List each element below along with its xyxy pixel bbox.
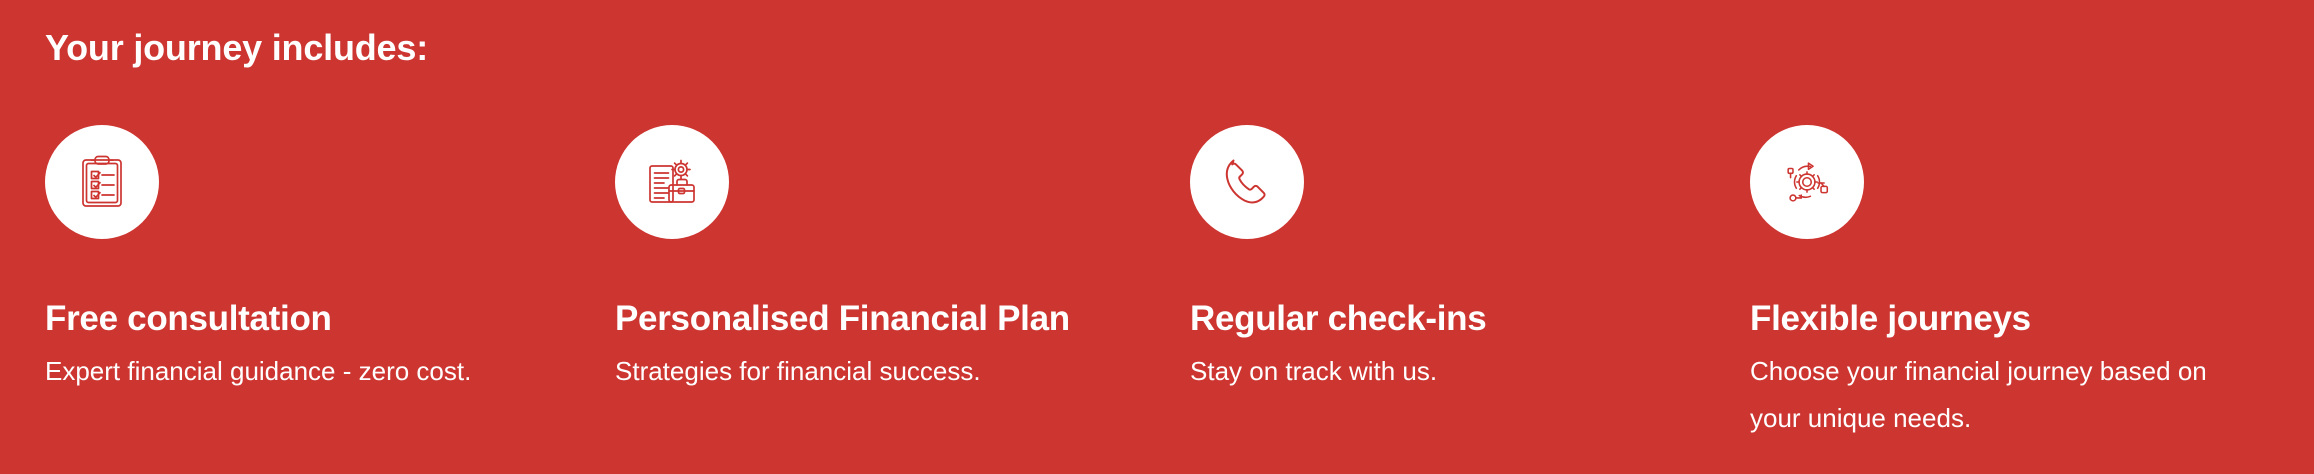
feature-description: Stay on track with us. <box>1190 348 1690 395</box>
feature-description: Expert financial guidance - zero cost. <box>45 348 545 395</box>
feature-description: Strategies for financial success. <box>615 348 1115 395</box>
features-row: Free consultation Expert financial guida… <box>45 125 2275 442</box>
feature-title: Free consultation <box>45 299 615 339</box>
feature-icon-badge <box>615 125 729 239</box>
document-gear-briefcase-icon <box>642 152 702 212</box>
clipboard-checklist-icon <box>72 152 132 212</box>
gear-network-nodes-icon <box>1778 153 1836 211</box>
feature-title: Flexible journeys <box>1750 299 2275 339</box>
feature-item-flexible-journeys[interactable]: Flexible journeys Choose your financial … <box>1750 125 2275 442</box>
feature-title: Regular check-ins <box>1190 299 1750 339</box>
feature-item-free-consultation[interactable]: Free consultation Expert financial guida… <box>45 125 615 395</box>
your-journey-includes-banner: Your journey includes: <box>0 0 2314 474</box>
phone-handset-icon <box>1217 152 1277 212</box>
feature-title: Personalised Financial Plan <box>615 299 1190 339</box>
feature-item-regular-check-ins[interactable]: Regular check-ins Stay on track with us. <box>1190 125 1750 395</box>
feature-description: Choose your financial journey based on y… <box>1750 348 2250 442</box>
feature-icon-badge <box>45 125 159 239</box>
feature-icon-badge <box>1190 125 1304 239</box>
feature-icon-badge <box>1750 125 1864 239</box>
banner-heading: Your journey includes: <box>45 27 428 69</box>
feature-item-personalised-financial-plan[interactable]: Personalised Financial Plan Strategies f… <box>615 125 1190 395</box>
